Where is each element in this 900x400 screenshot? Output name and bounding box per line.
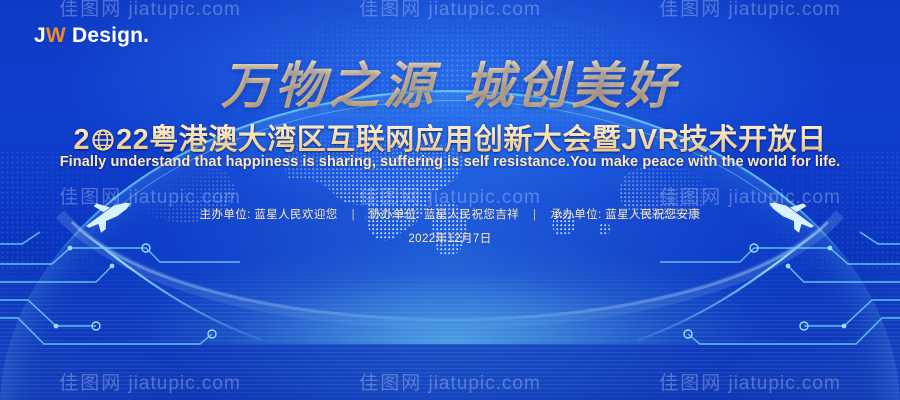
watermark-en: jiatupic.com: [128, 187, 240, 208]
watermark: 佳图网 jiatupic.com: [359, 368, 541, 395]
calligraphy-title: 万物之源城创美好: [0, 46, 900, 118]
calligraphy-left: 万物之源: [221, 56, 437, 115]
organizer-line: 主办单位: 蓝星人民欢迎您|协办单位: 蓝星人民祝您吉祥|承办单位: 蓝星人民祝…: [0, 206, 900, 222]
watermark-cn: 佳图网: [659, 187, 722, 208]
logo-text-pre: J: [34, 24, 46, 47]
watermark-cn: 佳图网: [359, 0, 422, 20]
watermark-cn: 佳图网: [659, 0, 722, 20]
watermark-en: jiatupic.com: [728, 187, 840, 208]
event-date: 2022年12月7日: [0, 230, 900, 246]
corner-glow-bottom-right: [660, 260, 900, 400]
watermark-en: jiatupic.com: [128, 0, 240, 20]
watermark-row-top: 佳图网 jiatupic.com 佳图网 jiatupic.com 佳图网 ji…: [0, 0, 900, 21]
watermark-en: jiatupic.com: [428, 0, 540, 20]
coorganizer-unit-label: 协办单位: 蓝星人民祝您吉祥: [369, 209, 519, 221]
separator-2: |: [533, 209, 536, 221]
corner-glow-bottom-left: [0, 260, 240, 400]
watermark-cn: 佳图网: [59, 0, 122, 20]
headline-post: 22粤港澳大湾区互联网应用创新大会暨JVR技术开放日: [116, 124, 827, 156]
page-subtitle: Finally understand that happiness is sha…: [0, 154, 900, 170]
watermark-en: jiatupic.com: [428, 187, 540, 208]
circuit-lines-right: [660, 230, 900, 360]
scanline-texture: [0, 260, 900, 400]
organizer-unit-label: 承办单位: 蓝星人民祝您安康: [550, 209, 700, 221]
page-title: 2 22粤港澳大湾区互联网应用创新大会暨JVR技术开放日: [0, 116, 900, 158]
circuit-lines-left: [0, 230, 240, 360]
watermark-cn: 佳图网: [59, 187, 122, 208]
watermark: 佳图网 jiatupic.com: [59, 368, 241, 395]
host-unit-label: 主办单位: 蓝星人民欢迎您: [200, 209, 338, 221]
calligraphy-right: 城创美好: [463, 56, 679, 115]
watermark-row-bottom: 佳图网 jiatupic.com 佳图网 jiatupic.com 佳图网 ji…: [0, 368, 900, 395]
globe-zero-icon: [91, 128, 115, 152]
watermark: 佳图网 jiatupic.com: [659, 368, 841, 395]
watermark: 佳图网 jiatupic.com: [359, 182, 541, 209]
watermark: 佳图网 jiatupic.com: [659, 182, 841, 209]
watermark-en: jiatupic.com: [128, 373, 240, 394]
watermark: 佳图网 jiatupic.com: [59, 182, 241, 209]
watermark-cn: 佳图网: [59, 373, 122, 394]
brand-logo: JW Design.: [34, 24, 149, 48]
watermark-cn: 佳图网: [659, 373, 722, 394]
watermark-cn: 佳图网: [359, 373, 422, 394]
logo-text-post: Design.: [66, 24, 149, 47]
watermark: 佳图网 jiatupic.com: [59, 0, 241, 21]
logo-letter-w: W: [46, 24, 66, 47]
watermark-en: jiatupic.com: [728, 0, 840, 20]
poster-canvas: JW Design. 万物之源城创美好 2 22粤港澳大湾区互联网应用创新大会暨…: [0, 0, 900, 400]
headline-pre: 2: [73, 124, 90, 156]
watermark: 佳图网 jiatupic.com: [359, 0, 541, 21]
watermark-cn: 佳图网: [359, 187, 422, 208]
separator-1: |: [352, 209, 355, 221]
watermark-row-middle: 佳图网 jiatupic.com 佳图网 jiatupic.com 佳图网 ji…: [0, 182, 900, 209]
watermark-en: jiatupic.com: [428, 373, 540, 394]
watermark: 佳图网 jiatupic.com: [659, 0, 841, 21]
watermark-en: jiatupic.com: [728, 373, 840, 394]
